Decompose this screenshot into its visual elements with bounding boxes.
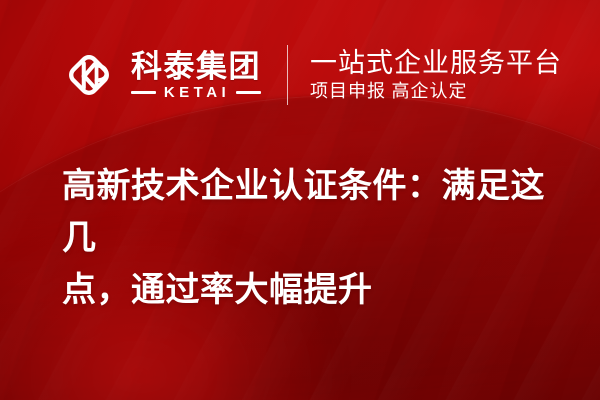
promo-banner: 科泰集团 KETAI 一站式企业服务平台 项目申报 高企认定 高新技术企业认证条…: [0, 0, 600, 400]
tagline-main: 一站式企业服务平台: [310, 49, 562, 77]
banner-content: 科泰集团 KETAI 一站式企业服务平台 项目申报 高企认定 高新技术企业认证条…: [0, 0, 600, 400]
vertical-divider-icon: [287, 45, 288, 105]
ketai-kp-diamond-monogram-icon: [60, 46, 118, 104]
banner-header: 科泰集团 KETAI 一站式企业服务平台 项目申报 高企认定: [60, 38, 562, 112]
headline-line-1: 高新技术企业认证条件：满足这几: [62, 160, 562, 264]
brand-name-cn: 科泰集团: [131, 51, 261, 82]
brand-wordmark: 科泰集团 KETAI: [131, 51, 261, 100]
headline: 高新技术企业认证条件：满足这几 点，通过率大幅提升: [62, 160, 562, 316]
brand-tagline: 一站式企业服务平台 项目申报 高企认定: [310, 49, 562, 101]
brand-rule-left-icon: [131, 91, 156, 94]
tagline-sub: 项目申报 高企认定: [310, 82, 562, 101]
brand-name-en: KETAI: [162, 85, 230, 100]
headline-line-2: 点，通过率大幅提升: [62, 264, 562, 316]
brand-rule-right-icon: [236, 91, 261, 94]
brand-logo[interactable]: 科泰集团 KETAI: [60, 46, 261, 104]
brand-name-en-row: KETAI: [131, 85, 261, 100]
